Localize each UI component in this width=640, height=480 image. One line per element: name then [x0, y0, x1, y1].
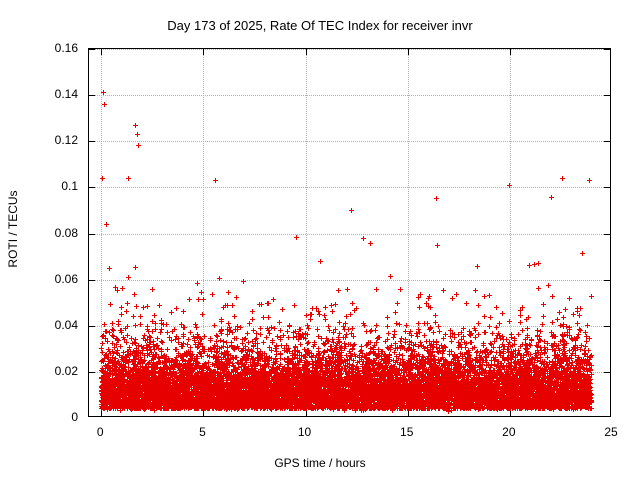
y-tick-right [604, 95, 610, 96]
x-tick-top [101, 49, 102, 55]
x-tick [306, 410, 307, 416]
gridline-horizontal [89, 187, 610, 188]
scatter-point-peak [213, 178, 218, 183]
x-tick [203, 410, 204, 416]
gridline-vertical [101, 49, 102, 416]
plot-area [88, 48, 611, 417]
gridline-horizontal [89, 326, 610, 327]
scatter-point-peak [133, 123, 138, 128]
x-tick-label: 5 [199, 425, 206, 439]
y-tick-label: 0.02 [0, 364, 78, 378]
y-tick-right [604, 234, 610, 235]
gridline-horizontal [89, 95, 610, 96]
x-tick [510, 410, 511, 416]
x-tick [408, 410, 409, 416]
y-tick-right [604, 187, 610, 188]
scatter-point-peak [102, 102, 107, 107]
y-tick-right [604, 49, 610, 50]
y-tick [89, 372, 95, 373]
x-tick-label: 15 [400, 425, 413, 439]
chart-container: Day 173 of 2025, Rate Of TEC Index for r… [0, 0, 640, 480]
scatter-point-peak [135, 132, 140, 137]
gridline-horizontal [89, 280, 610, 281]
gridline-vertical [306, 49, 307, 416]
y-axis-title: ROTI / TECUs [6, 169, 20, 289]
gridline-vertical [510, 49, 511, 416]
y-tick [89, 234, 95, 235]
gridline-horizontal [89, 49, 610, 50]
x-tick-top [203, 49, 204, 55]
x-axis-title: GPS time / hours [0, 456, 640, 470]
y-tick [89, 95, 95, 96]
y-tick-right [604, 141, 610, 142]
scatter-point-peak [434, 196, 439, 201]
x-tick-label: 0 [97, 425, 104, 439]
scatter-point-peak [126, 176, 131, 181]
gridline-horizontal [89, 372, 610, 373]
y-tick-label: 0.14 [0, 87, 78, 101]
x-tick [101, 410, 102, 416]
chart-title: Day 173 of 2025, Rate Of TEC Index for r… [0, 18, 640, 33]
y-tick [89, 326, 95, 327]
gridline-horizontal [89, 141, 610, 142]
gridline-vertical [408, 49, 409, 416]
y-tick [89, 280, 95, 281]
y-tick [89, 49, 95, 50]
y-tick-label: 0.16 [0, 41, 78, 55]
scatter-point-peak [560, 176, 565, 181]
x-tick-label: 25 [604, 425, 617, 439]
scatter-point-peak [136, 143, 141, 148]
x-tick-label: 20 [502, 425, 515, 439]
y-tick-label: 0.04 [0, 318, 78, 332]
y-tick [89, 141, 95, 142]
gridline-horizontal [89, 234, 610, 235]
x-tick-top [510, 49, 511, 55]
x-tick-top [306, 49, 307, 55]
y-tick [89, 187, 95, 188]
y-tick-label: 0.12 [0, 133, 78, 147]
scatter-point-peak [587, 178, 592, 183]
x-tick-label: 10 [298, 425, 311, 439]
y-tick-right [604, 326, 610, 327]
y-tick-right [604, 280, 610, 281]
x-tick-top [408, 49, 409, 55]
y-tick-right [604, 372, 610, 373]
gridline-vertical [203, 49, 204, 416]
y-tick-label: 0 [0, 410, 78, 424]
